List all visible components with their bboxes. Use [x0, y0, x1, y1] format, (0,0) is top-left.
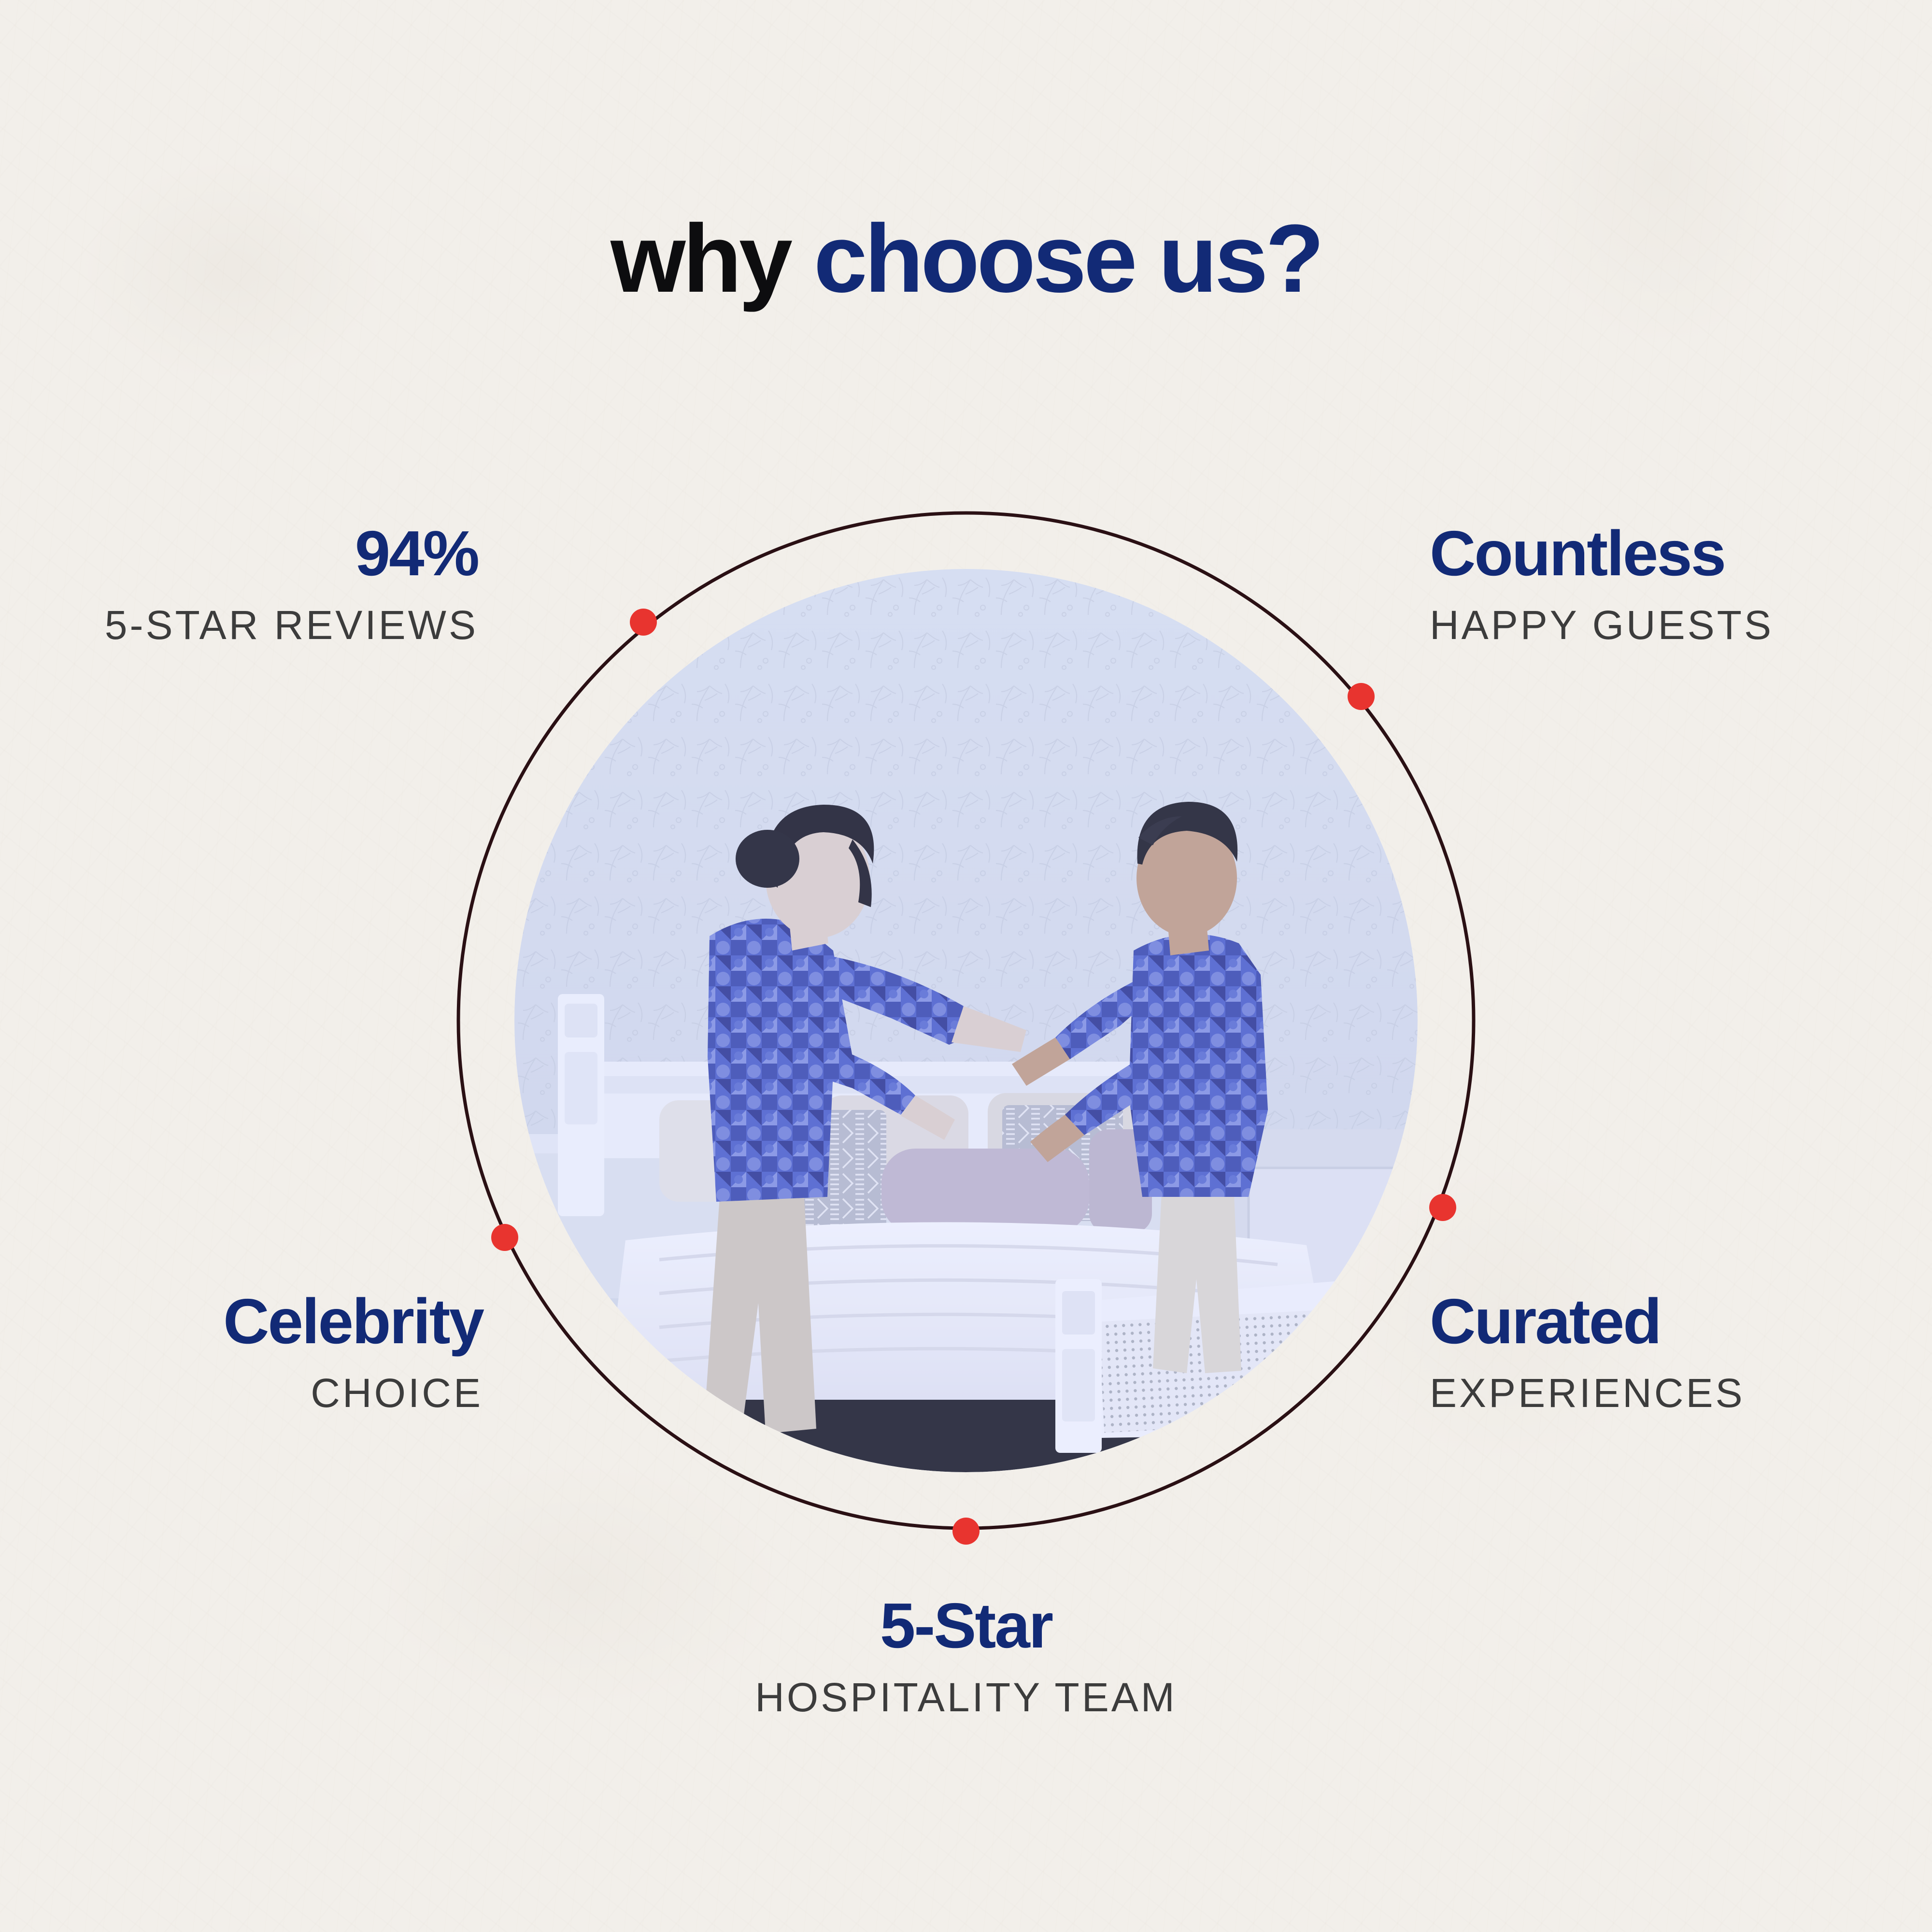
stat-sublabel-curated: EXPERIENCES [1430, 1373, 1913, 1413]
stat-sublabel-celebrity: CHOICE [58, 1373, 483, 1413]
ring-dot-guests [1348, 683, 1375, 710]
stat-happy-guests: Countless HAPPY GUESTS [1430, 522, 1913, 645]
stat-sublabel-team: HOSPITALITY TEAM [628, 1677, 1304, 1718]
hospitality-photo [514, 569, 1418, 1472]
stat-5-star-reviews: 94% 5-STAR REVIEWS [19, 522, 478, 645]
stat-headline-team: 5-Star [628, 1594, 1304, 1658]
ring-dot-team [952, 1518, 980, 1545]
stat-curated-experiences: Curated EXPERIENCES [1430, 1290, 1913, 1413]
ring-dot-curated [1429, 1194, 1456, 1221]
stat-hospitality-team: 5-Star HOSPITALITY TEAM [628, 1594, 1304, 1718]
stat-celebrity-choice: Celebrity CHOICE [58, 1290, 483, 1413]
stat-headline-celebrity: Celebrity [58, 1290, 483, 1353]
stat-headline-reviews: 94% [19, 522, 478, 585]
title-word-choose-us: choose us? [814, 205, 1321, 313]
stat-headline-curated: Curated [1430, 1290, 1913, 1353]
infographic-canvas: why choose us? [0, 0, 1932, 1932]
stat-sublabel-reviews: 5-STAR REVIEWS [19, 605, 478, 645]
hospitality-photo-illustration [514, 569, 1418, 1472]
ring-dot-reviews [630, 609, 657, 636]
stat-sublabel-guests: HAPPY GUESTS [1430, 605, 1913, 645]
title-word-why: why [611, 205, 814, 313]
stat-headline-guests: Countless [1430, 522, 1913, 585]
ring-dot-celebrity [491, 1224, 518, 1251]
center-graphic [456, 511, 1476, 1530]
page-title: why choose us? [0, 208, 1932, 310]
